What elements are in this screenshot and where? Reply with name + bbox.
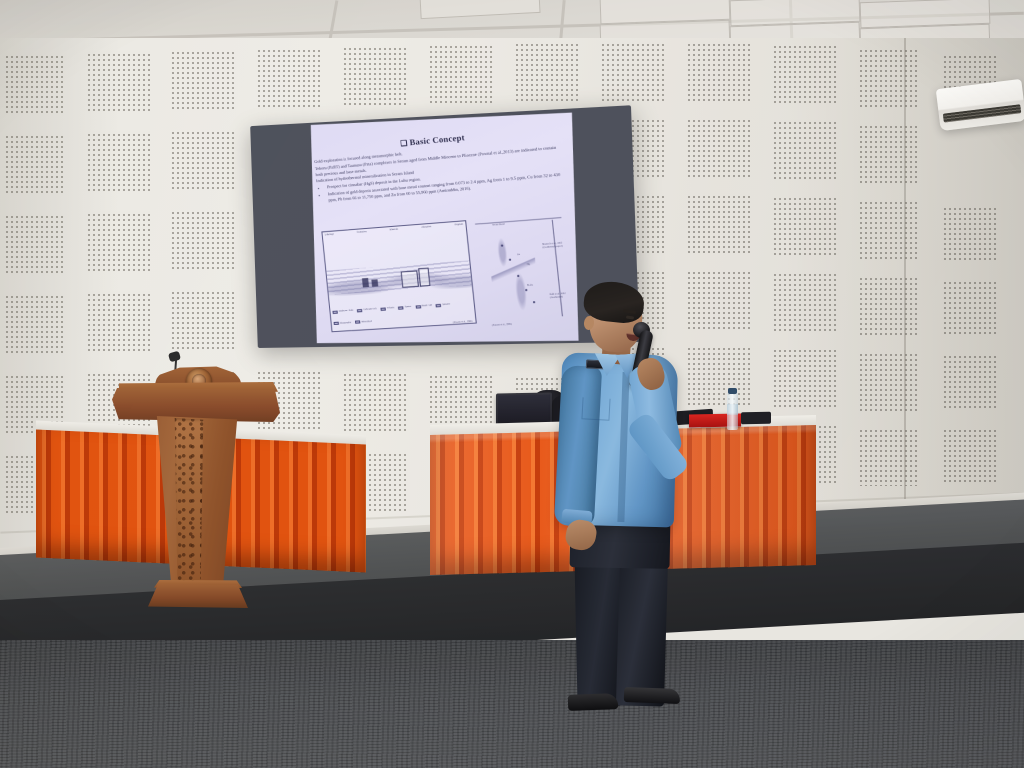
water-bottle	[727, 392, 738, 430]
presenter-left-shoe	[568, 693, 619, 711]
shirt-pocket	[581, 397, 610, 420]
wooden-podium	[112, 352, 280, 620]
ac-vent-icon	[943, 104, 1022, 122]
cross-section-legend: Sandstone / shale Carbonate rock Volcani…	[332, 298, 473, 329]
presentation-slide: ❑Basic Concept Gold exploration is focus…	[311, 113, 579, 344]
coastline-shape	[486, 221, 541, 320]
square-bullet-icon: ❑	[400, 138, 408, 148]
cross-section-column-headers: Lithology Formation Minerals Alteration …	[325, 224, 464, 243]
bottle-cap	[728, 388, 737, 394]
presenter-right-shoe	[624, 687, 680, 704]
map-annotation: Murdoch et al., 2013 (Geothermal project…	[542, 242, 571, 250]
carved-lattice-panel	[172, 418, 206, 590]
presenter-right-arm	[554, 365, 602, 527]
dark-object-on-table	[741, 412, 771, 425]
map-symbol: Hg	[527, 264, 530, 267]
presenter-right-leg	[616, 557, 668, 706]
auditorium-presentation-photo: ❑Basic Concept Gold exploration is focus…	[0, 0, 1024, 768]
figure-citation: (Sissons et al., 1986)	[453, 320, 473, 323]
map-symbol: Au	[517, 254, 520, 257]
map-symbol: Pb-Zn	[527, 284, 533, 287]
carpet-floor	[0, 640, 1024, 768]
figure-citation: (Sissons et al., 1986)	[492, 324, 512, 327]
podium-base	[148, 584, 248, 608]
presenter	[540, 280, 720, 710]
cross-section-diagram: Lithology Formation Minerals Alteration …	[321, 220, 477, 332]
podium-top	[112, 388, 280, 422]
